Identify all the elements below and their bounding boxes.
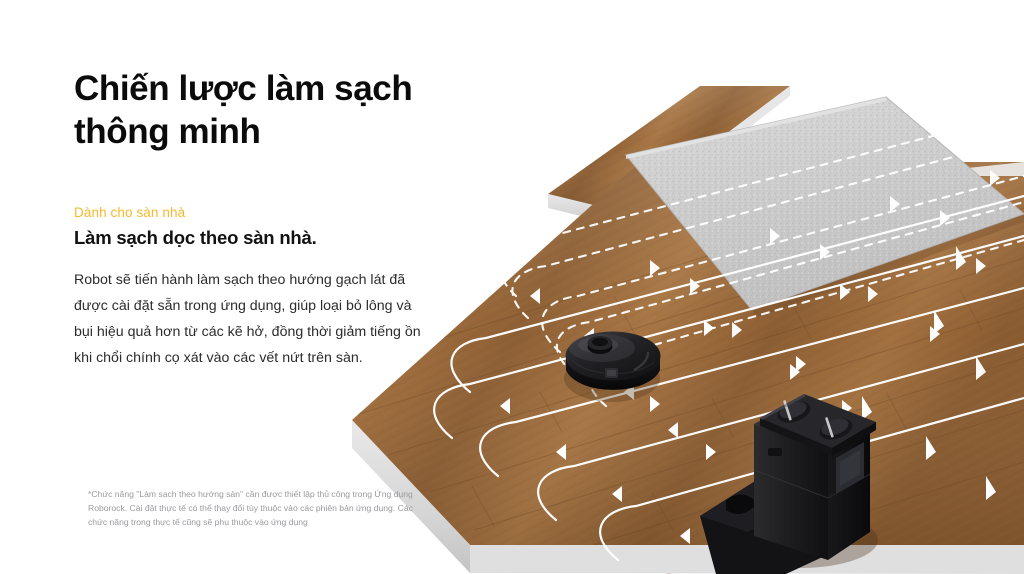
- feature-description: Robot sẽ tiến hành làm sạch theo hướng g…: [74, 268, 426, 371]
- eyebrow-label: Dành cho sàn nhà: [74, 205, 454, 220]
- feature-subheading: Làm sạch dọc theo sàn nhà.: [74, 227, 454, 249]
- page-title: Chiến lược làm sạch thông minh: [74, 68, 454, 153]
- footnote-disclaimer: *Chức năng "Làm sạch theo hướng sàn" cần…: [88, 488, 418, 530]
- text-column: Chiến lược làm sạch thông minh Dành cho …: [74, 68, 454, 386]
- robot-vacuum: [564, 332, 661, 403]
- promo-page: Chiến lược làm sạch thông minh Dành cho …: [0, 0, 1024, 574]
